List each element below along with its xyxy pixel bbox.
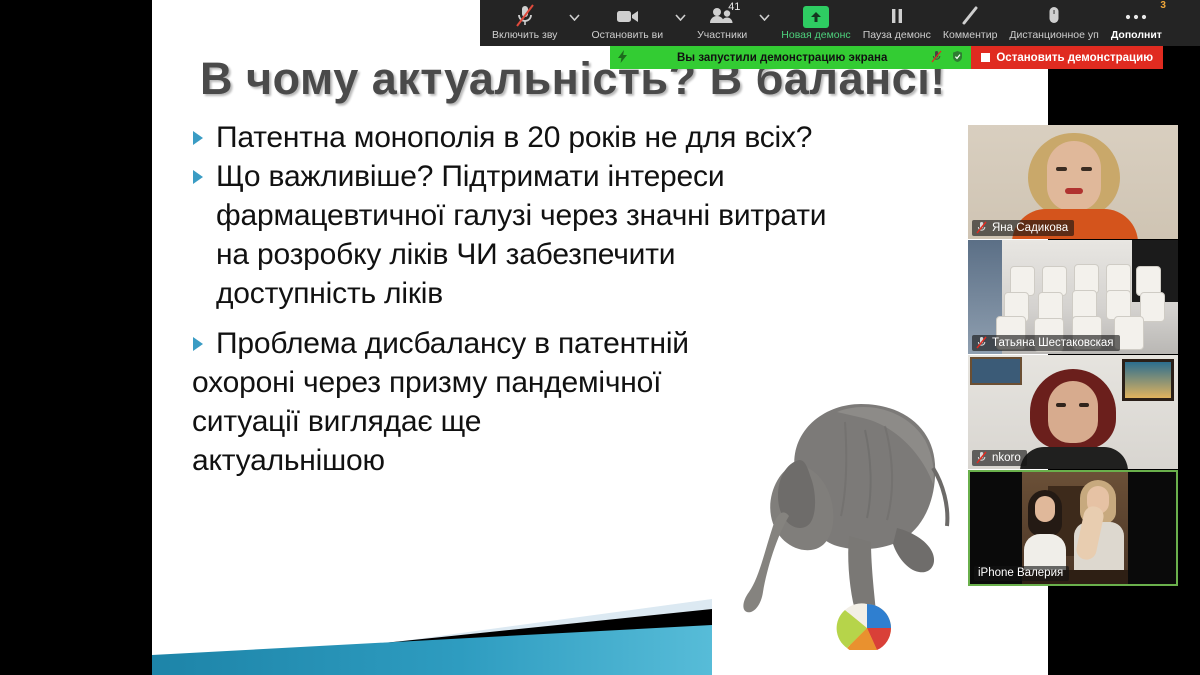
toolbar-new-share-label: Новая демонс — [781, 29, 850, 41]
toolbar-more-button[interactable]: 3 Дополнит — [1105, 0, 1168, 46]
camera-icon — [614, 4, 640, 28]
participant-video-strip: Яна Садикова — [968, 125, 1178, 587]
toolbar-participants-label: Участники — [697, 29, 747, 41]
bullet-text-2: Що важливіше? Підтримати інтереси — [216, 157, 1022, 196]
participant-name: nkoro — [992, 452, 1021, 464]
microphone-muted-icon — [976, 221, 987, 234]
avatar — [1048, 381, 1098, 443]
mouse-icon — [1046, 4, 1062, 28]
bullet-2-line-3: на розробку ліків ЧИ забезпечити — [192, 235, 1022, 274]
toolbar-more-label: Дополнит — [1111, 29, 1162, 41]
slide-decoration-stripes — [152, 525, 712, 675]
bullet-item-2: Що важливіше? Підтримати інтереси — [192, 157, 1022, 196]
toolbar-annotate-label: Комментир — [943, 29, 998, 41]
bullet-text-1: Патентна монополія в 20 років не для всі… — [216, 118, 1022, 157]
video-background — [1122, 359, 1174, 401]
avatar — [1056, 167, 1067, 171]
triangle-right-icon — [192, 131, 216, 145]
microphone-muted-icon — [976, 336, 987, 349]
participant-name: Яна Садикова — [992, 222, 1068, 234]
bullet-2-line-2: фармацевтичної галузі через значні витра… — [192, 196, 1022, 235]
toolbar-pause-share-button[interactable]: Пауза демонс — [857, 0, 937, 46]
avatar — [1056, 403, 1066, 407]
participants-count: 41 — [728, 1, 740, 13]
stop-share-label: Остановить демонстрацию — [996, 52, 1153, 64]
toolbar-video-button[interactable]: Остановить ви — [585, 0, 669, 46]
bullet-text-3: Проблема дисбалансу в патентній — [216, 324, 1022, 363]
bullet-2-line-4: доступність ліків — [192, 274, 1022, 313]
share-status-text: Вы запустили демонстрацию экрана — [637, 52, 921, 64]
triangle-right-icon — [192, 337, 216, 351]
toolbar-audio-label: Включить зву — [492, 29, 557, 41]
elephant-on-ball-image — [737, 360, 957, 650]
toolbar-annotate-button[interactable]: Комментир — [937, 0, 1004, 46]
screen-share-notification-bar: Вы запустили демонстрацию экрана Останов… — [610, 46, 1163, 69]
video-background — [970, 357, 1022, 385]
participant-tile[interactable]: Татьяна Шестаковская — [968, 240, 1178, 354]
participant-name-badge: iPhone Валерия — [974, 566, 1069, 581]
more-badge: 3 — [1160, 0, 1166, 11]
avatar — [1020, 447, 1128, 469]
participant-name-badge: nkoro — [972, 450, 1027, 466]
participant-name: Татьяна Шестаковская — [992, 337, 1114, 349]
avatar — [1035, 496, 1055, 522]
participant-name-badge: Татьяна Шестаковская — [972, 335, 1120, 351]
toolbar-participants-button[interactable]: 41 Участники — [691, 0, 753, 46]
zoom-toolbar: Включить зву Остановить ви 41 — [480, 0, 1200, 46]
toolbar-video-label: Остановить ви — [591, 29, 663, 41]
toolbar-remote-control-button[interactable]: Дистанционное уп — [1003, 0, 1104, 46]
share-screen-icon — [803, 4, 829, 28]
avatar — [1081, 167, 1092, 171]
avatar — [1047, 141, 1101, 211]
participant-tile[interactable]: Яна Садикова — [968, 125, 1178, 239]
microphone-muted-icon — [514, 4, 536, 28]
bullet-item-1: Патентна монополія в 20 років не для всі… — [192, 118, 1022, 157]
video-background — [1140, 292, 1165, 322]
video-chevron-down-icon[interactable] — [669, 0, 691, 46]
zoom-screen-share-window: В чому актуальність? В балансі! Патентна… — [0, 0, 1200, 675]
participant-name: iPhone Валерия — [978, 567, 1063, 579]
participant-tile[interactable]: nkoro — [968, 355, 1178, 469]
participant-name-badge: Яна Садикова — [972, 220, 1074, 236]
toolbar-remote-control-label: Дистанционное уп — [1009, 29, 1098, 41]
share-shield-icon — [952, 50, 963, 66]
ellipsis-icon — [1123, 4, 1149, 28]
pause-icon — [888, 4, 906, 28]
triangle-right-icon — [192, 170, 216, 184]
toolbar-audio-button[interactable]: Включить зву — [486, 0, 563, 46]
microphone-muted-icon — [976, 451, 987, 464]
shared-slide: В чому актуальність? В балансі! Патентна… — [152, 0, 1048, 675]
stop-square-icon — [981, 53, 990, 62]
toolbar-pause-share-label: Пауза демонс — [863, 29, 931, 41]
share-status-section: Вы запустили демонстрацию экрана — [610, 46, 971, 69]
pencil-icon — [960, 4, 980, 28]
bullet-item-3: Проблема дисбалансу в патентній — [192, 324, 1022, 363]
participant-tile-active-speaker[interactable]: iPhone Валерия — [968, 470, 1178, 586]
share-indicator-icon — [618, 50, 627, 66]
toolbar-new-share-button[interactable]: Новая демонс — [775, 0, 856, 46]
avatar — [1065, 188, 1083, 194]
participants-chevron-down-icon[interactable] — [753, 0, 775, 46]
avatar — [1079, 403, 1089, 407]
stop-share-button[interactable]: Остановить демонстрацию — [971, 46, 1163, 69]
audio-chevron-down-icon[interactable] — [563, 0, 585, 46]
share-mic-muted-icon — [931, 50, 942, 66]
